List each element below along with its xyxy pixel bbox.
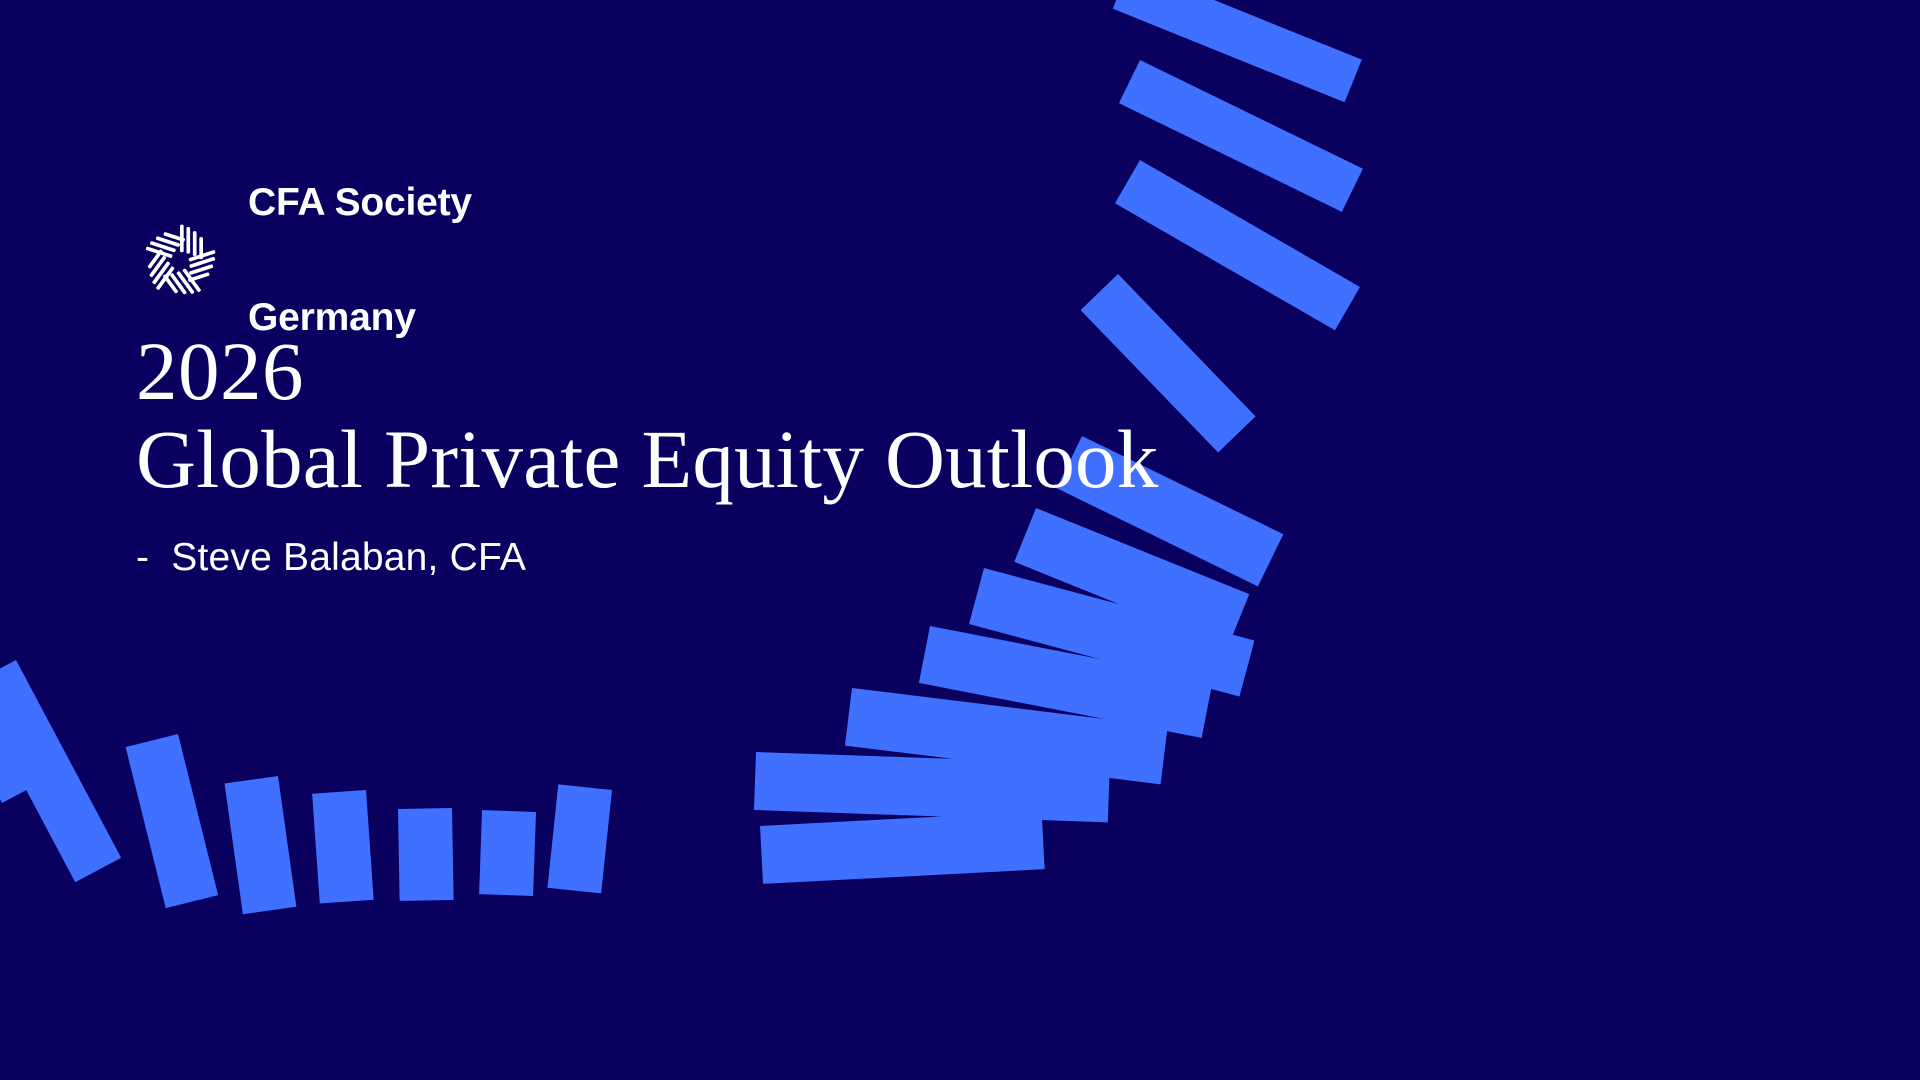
logo-wordmark-line-1: CFA Society	[248, 184, 472, 222]
decorative-stripe	[845, 688, 1168, 784]
decorative-stripe	[398, 808, 454, 901]
decorative-stripe	[225, 776, 297, 914]
decorative-stripe	[479, 810, 536, 896]
decorative-stripe	[126, 734, 219, 908]
decorative-stripe	[0, 602, 48, 803]
decorative-stripe	[312, 790, 374, 903]
cfa-society-pinwheel-icon	[134, 215, 226, 307]
title-block: 2026 Global Private Equity Outlook	[136, 330, 1336, 502]
title-year: 2026	[136, 330, 1336, 413]
decorative-stripe	[1014, 508, 1249, 648]
decorative-stripe	[969, 568, 1254, 696]
decorative-stripe	[919, 626, 1213, 738]
decorative-stripe	[754, 752, 1110, 822]
decorative-stripe	[760, 811, 1045, 884]
presentation-title-slide: CFA Society Germany 2026 Global Private …	[0, 0, 1920, 1080]
presenter-byline: - Steve Balaban, CFA	[136, 537, 526, 580]
decorative-stripe	[547, 784, 612, 893]
page-title: Global Private Equity Outlook	[136, 417, 1336, 502]
decorative-stripe	[1115, 160, 1360, 330]
decorative-stripe	[0, 660, 121, 882]
decorative-stripe	[1113, 0, 1362, 102]
decorative-stripe	[1119, 60, 1363, 212]
